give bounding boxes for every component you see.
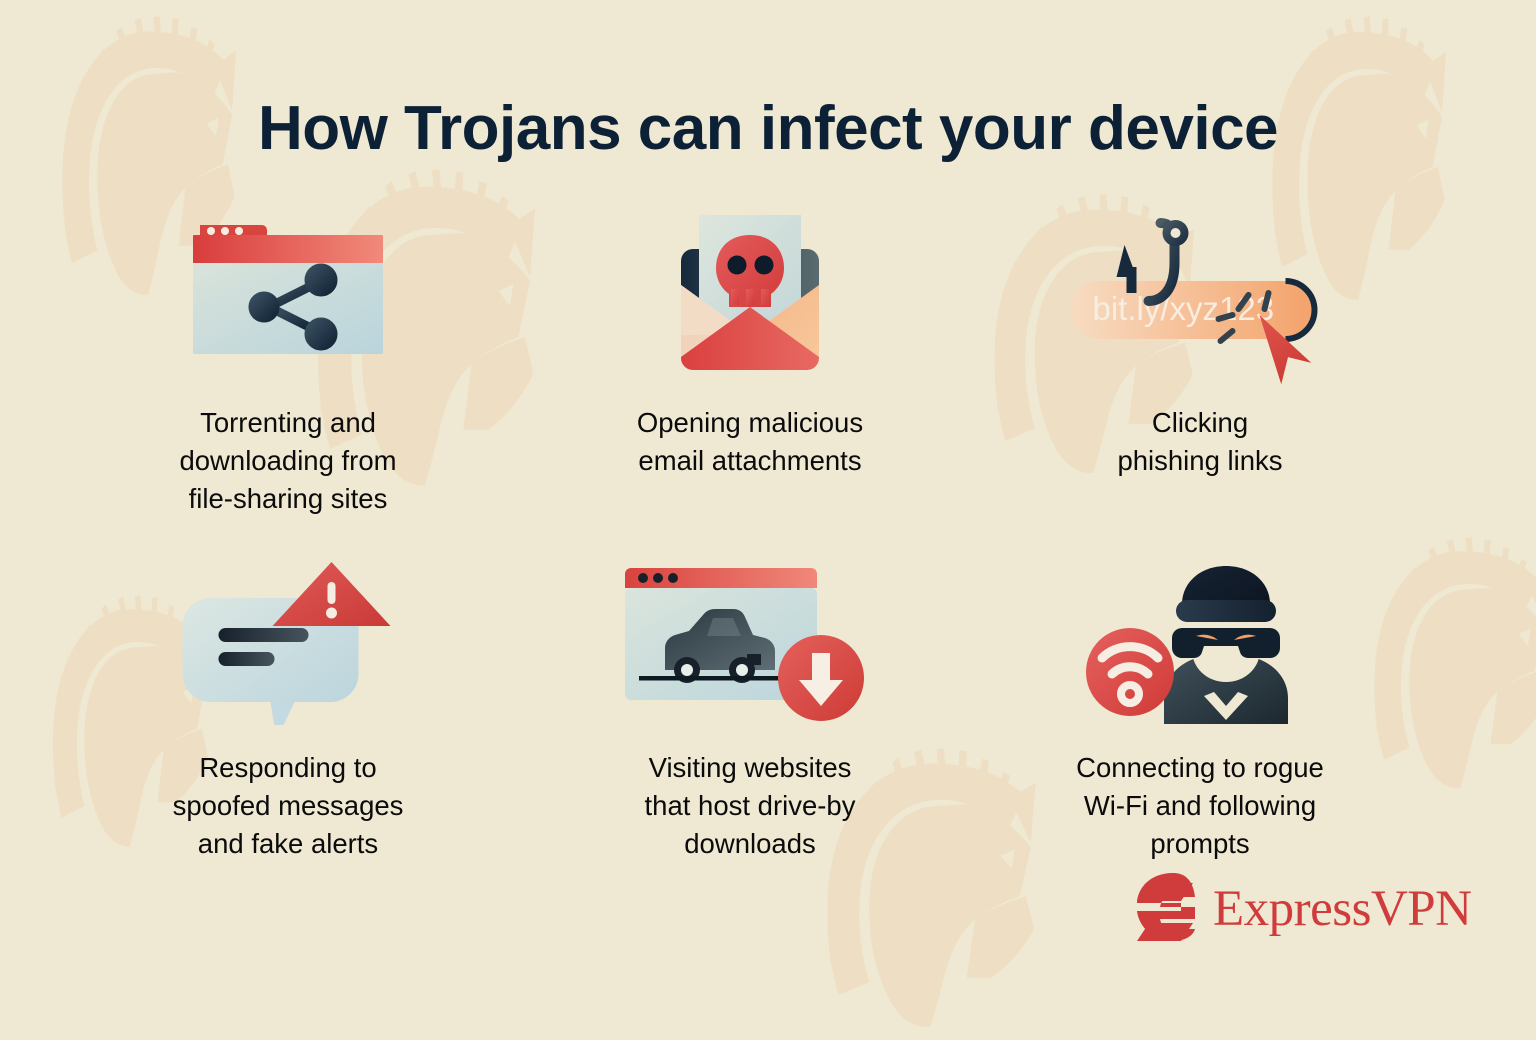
expressvpn-wordmark: ExpressVPN xyxy=(1213,884,1472,935)
expressvpn-logo[interactable]: ExpressVPN xyxy=(1135,868,1475,950)
item-caption: Opening malicious email attachments xyxy=(550,404,950,480)
expressvpn-e-mark-icon xyxy=(1135,871,1197,948)
item-drive-by-downloads: Visiting websites that host drive-by dow… xyxy=(550,560,950,863)
burglar-wifi-icon xyxy=(1000,560,1400,735)
item-caption: Responding to spoofed messages and fake … xyxy=(88,749,488,863)
infographic-canvas: How Trojans can infect your device xyxy=(0,0,1536,994)
open-envelope-skull-icon xyxy=(550,215,950,390)
item-phishing-links: bit.ly/xyz123 xyxy=(1000,215,1400,480)
item-caption: Visiting websites that host drive-by dow… xyxy=(550,749,950,863)
browser-car-download-icon xyxy=(550,560,950,735)
items-grid: Torrenting and downloading from file-sha… xyxy=(0,0,1536,994)
item-torrenting: Torrenting and downloading from file-sha… xyxy=(88,215,488,518)
item-email-attachments: Opening malicious email attachments xyxy=(550,215,950,480)
item-caption: Clicking phishing links xyxy=(1000,404,1400,480)
item-rogue-wifi: Connecting to rogue Wi-Fi and following … xyxy=(1000,560,1400,863)
speech-bubble-warning-icon xyxy=(88,560,488,735)
item-caption: Torrenting and downloading from file-sha… xyxy=(88,404,488,518)
browser-window-share-icon xyxy=(88,215,488,390)
item-caption: Connecting to rogue Wi-Fi and following … xyxy=(1000,749,1400,863)
item-spoofed-messages: Responding to spoofed messages and fake … xyxy=(88,560,488,863)
phishing-hook-link-cursor-icon: bit.ly/xyz123 xyxy=(1000,215,1400,390)
